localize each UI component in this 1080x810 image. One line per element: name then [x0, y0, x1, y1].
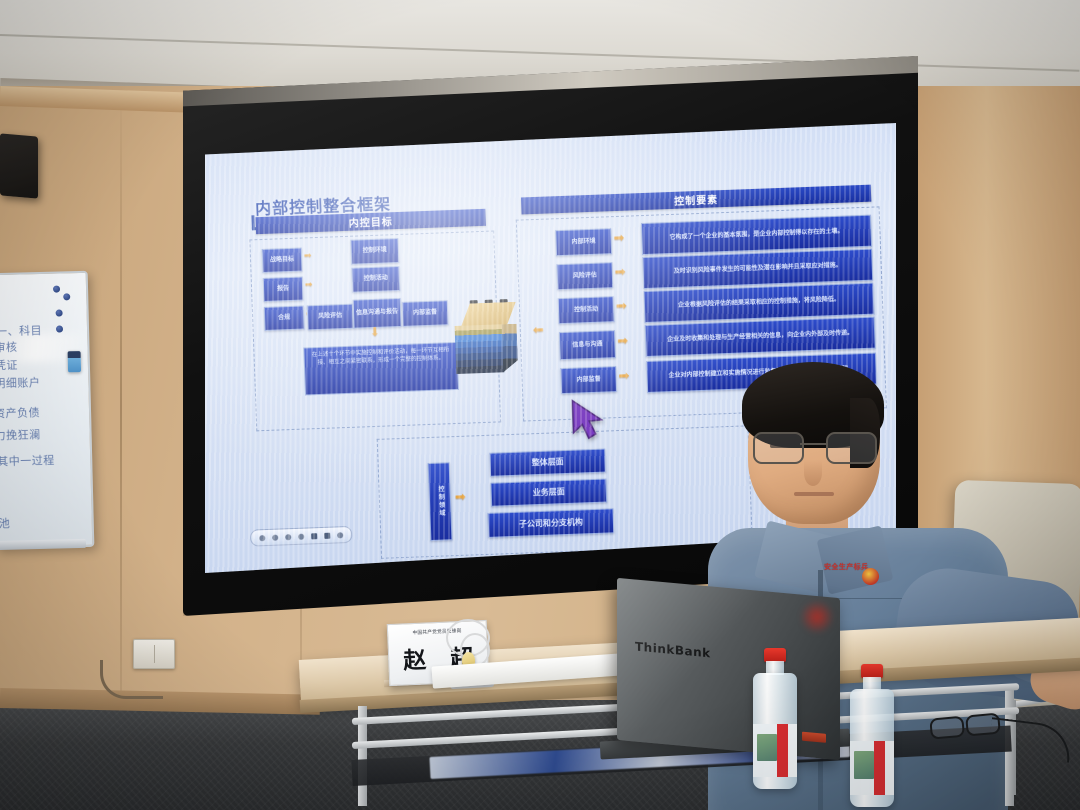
control-domain-label: 控制领域 — [428, 462, 453, 541]
lens-right — [826, 432, 877, 464]
pen-icon[interactable] — [272, 534, 278, 540]
delete-icon[interactable] — [324, 532, 330, 538]
stage-box: 控制活动 — [351, 266, 400, 293]
shape-icon[interactable] — [311, 533, 317, 539]
element-name: 信息与沟通 — [559, 330, 616, 360]
whiteboard-line: 池 — [0, 515, 10, 531]
coso-cube-graphic — [454, 301, 527, 376]
arrow-right-icon: ➡ — [305, 280, 313, 289]
arrow-right-icon: ➡ — [618, 369, 629, 382]
whiteboard-line: 明细账户 — [0, 374, 41, 391]
arrow-right-icon: ➡ — [614, 265, 625, 278]
bottle-cap — [861, 664, 883, 678]
whiteboard-line: 凭证 — [0, 357, 18, 374]
shirt-emblem: 安全生产标兵 — [824, 556, 918, 596]
cursor-icon[interactable] — [259, 535, 265, 541]
arrow-right-icon: ➡ — [613, 231, 624, 244]
power-cable — [100, 660, 163, 699]
objective-box: 战略目标 — [262, 248, 303, 273]
bottle-body — [850, 689, 894, 807]
glasses-bridge — [800, 443, 826, 445]
more-icon[interactable] — [337, 532, 343, 538]
emblem-badge-icon — [862, 568, 879, 585]
arrow-right-icon: ➡ — [616, 299, 627, 312]
whiteboard-line: 审核 — [0, 339, 18, 356]
objective-box: 报告 — [263, 277, 304, 302]
wall-speaker — [0, 133, 38, 198]
highlighter-icon[interactable] — [285, 534, 291, 540]
whiteboard-line: 其中一过程 — [0, 452, 55, 469]
element-name: 控制活动 — [558, 296, 615, 324]
stage-box: 控制环境 — [350, 238, 399, 265]
bottle-label — [850, 741, 894, 795]
whiteboard-line: 一、科目 — [0, 322, 42, 339]
magnet[interactable] — [53, 286, 60, 293]
left-flow-note: 在上述十个环节中实施控制和评价活动，每一环节互相衔接、相互之间紧密联系，形成一个… — [303, 342, 459, 396]
magnet[interactable] — [63, 293, 70, 300]
magnet[interactable] — [56, 325, 63, 332]
bottle-label — [753, 724, 797, 777]
stage-box: 内部监督 — [402, 300, 449, 327]
eyeglasses — [752, 432, 878, 462]
domain-item: 子公司和分支机构 — [487, 508, 614, 538]
domain-item: 整体层面 — [489, 449, 606, 477]
whiteboard-line: 资产负债 — [0, 404, 40, 421]
arrow-right-icon: ➡ — [617, 334, 628, 347]
bottle-body — [753, 673, 797, 789]
bottle-cap — [764, 648, 786, 662]
red-glow-reflection — [800, 600, 834, 634]
element-name: 内部监督 — [560, 366, 617, 394]
laptop-brand-label: ThinkBank — [635, 639, 711, 660]
emblem-text: 安全生产标兵 — [824, 562, 868, 572]
element-name: 内部环境 — [555, 228, 612, 256]
whiteboard-line: 力挽狂澜 — [0, 426, 41, 443]
arrow-right-icon: ➡ — [304, 251, 312, 260]
domain-item: 业务层面 — [490, 479, 607, 507]
arrow-left-icon: ⬅ — [533, 323, 544, 336]
meeting-room-photo: 一、科目 审核 凭证 明细账户 资产负债 力挽狂澜 其中一过程 池 内部控制整合… — [0, 0, 1080, 810]
lenovo-badge-icon — [802, 732, 826, 743]
whiteboard-eraser[interactable] — [68, 351, 82, 372]
objective-box: 合规 — [264, 306, 305, 331]
nose — [804, 460, 822, 486]
magnet[interactable] — [56, 309, 63, 316]
arrow-right-icon: ➡ — [455, 490, 466, 503]
arrow-down-icon: ⬇ — [370, 326, 380, 338]
annotation-toolbar[interactable] — [250, 526, 353, 547]
mouth — [794, 492, 834, 496]
element-name: 风险评估 — [556, 262, 613, 290]
lens-left — [753, 432, 804, 464]
whiteboard[interactable]: 一、科目 审核 凭证 明细账户 资产负债 力挽狂澜 其中一过程 池 — [0, 271, 94, 549]
stage-box: 风险评估 — [307, 304, 354, 331]
eraser-icon[interactable] — [298, 533, 304, 539]
